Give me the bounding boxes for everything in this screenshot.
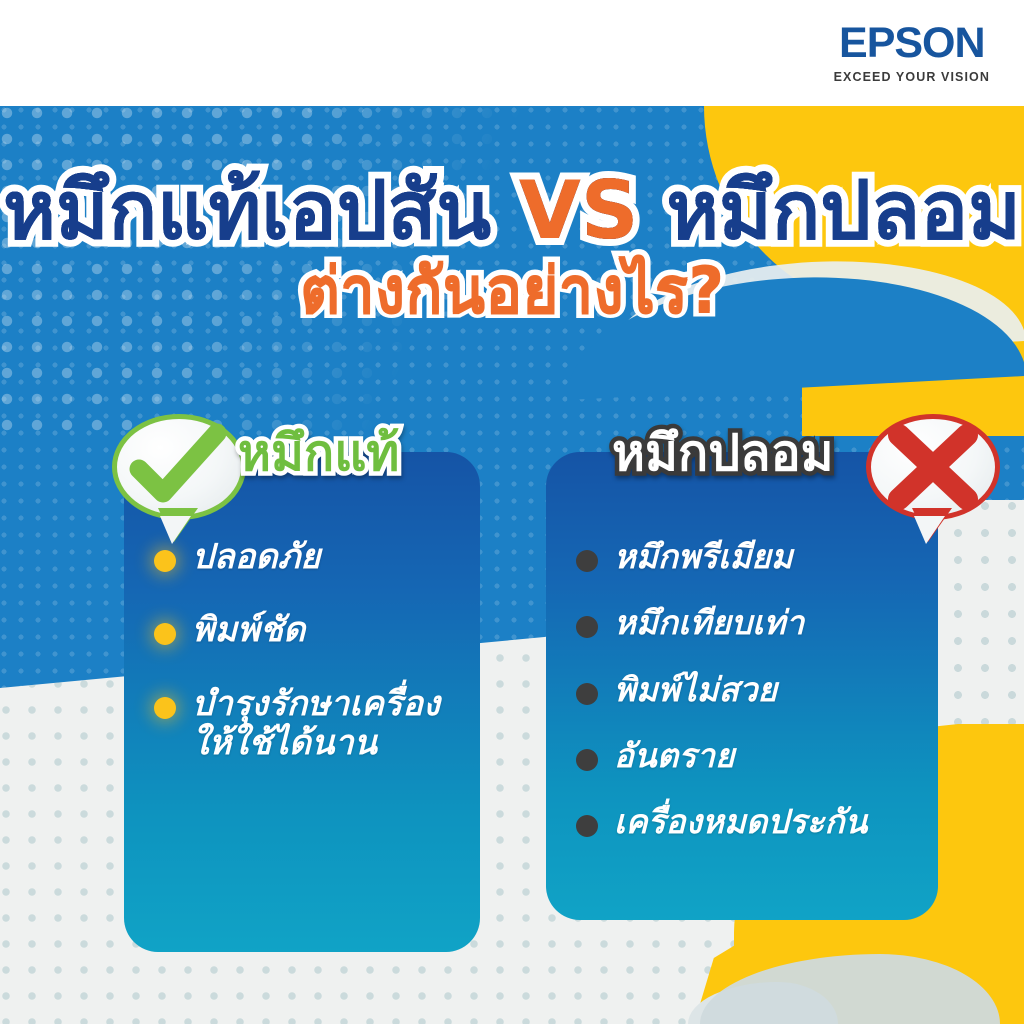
bullet-icon: [154, 697, 176, 719]
list-item-label: หมึกพรีเมียม: [614, 538, 793, 576]
list-item-label: หมึกเทียบเท่า: [614, 604, 804, 642]
counterfeit-column-title: หมึกปลอม: [612, 428, 834, 478]
list-item-label: อันตราย: [614, 737, 735, 775]
bubble-tail-inner: [160, 516, 191, 544]
headline-block: หมึกแท้เอปสัน VS หมึกปลอม หมึกแท้เอปสัน …: [0, 168, 1024, 325]
genuine-badge-bubble: [112, 414, 246, 520]
list-item: พิมพ์ชัด: [124, 611, 480, 650]
bullet-icon: [576, 749, 598, 771]
poster-canvas: EPSON EXCEED YOUR VISION หมึกแท้เอปสัน V…: [0, 0, 1024, 1024]
bullet-icon: [576, 815, 598, 837]
bullet-icon: [576, 550, 598, 572]
bubble-tail-inner: [914, 516, 945, 544]
epson-logo-tagline: EXCEED YOUR VISION: [834, 70, 990, 84]
list-item-label: พิมพ์ชัด: [192, 611, 305, 650]
headline-vs-text-fill: VS: [519, 164, 639, 257]
red-cross-icon: [871, 419, 995, 515]
list-item: หมึกพรีเมียม: [546, 538, 938, 576]
green-check-icon: [117, 419, 241, 515]
headline-fake-text-fill: หมึกปลอม: [666, 164, 1021, 257]
epson-logo: EPSON EXCEED YOUR VISION: [834, 22, 990, 84]
bubble-shape: [112, 414, 246, 520]
list-item: หมึกเทียบเท่า: [546, 604, 938, 642]
list-item-label: พิมพ์ไม่สวย: [614, 671, 777, 709]
headline-line-1: หมึกแท้เอปสัน VS หมึกปลอม หมึกแท้เอปสัน …: [0, 168, 1024, 254]
epson-logo-wordmark: EPSON: [834, 22, 990, 65]
counterfeit-ink-card: หมึกพรีเมียม หมึกเทียบเท่า พิมพ์ไม่สวย อ…: [546, 452, 938, 920]
list-item: พิมพ์ไม่สวย: [546, 671, 938, 709]
headline-line-1-fill: หมึกแท้เอปสัน VS หมึกปลอม: [0, 168, 1024, 254]
list-item-label: เครื่องหมดประกัน: [614, 803, 867, 841]
list-item: เครื่องหมดประกัน: [546, 803, 938, 841]
bullet-icon: [154, 623, 176, 645]
list-item: บำรุงรักษาเครื่องให้ใช้ได้นาน: [124, 685, 480, 764]
headline-subtitle-fill: ต่างกันอย่างไร?: [0, 258, 1024, 326]
list-item: อันตราย: [546, 737, 938, 775]
bullet-icon: [154, 550, 176, 572]
list-item-label: ปลอดภัย: [192, 538, 320, 577]
headline-genuine-text-fill: หมึกแท้เอปสัน: [3, 164, 491, 257]
headline-line-2: ต่างกันอย่างไร? ต่างกันอย่างไร?: [0, 256, 1024, 324]
top-white-bar: EPSON EXCEED YOUR VISION: [0, 0, 1024, 106]
bullet-icon: [576, 683, 598, 705]
list-item-label: บำรุงรักษาเครื่องให้ใช้ได้นาน: [192, 685, 462, 764]
bullet-icon: [576, 616, 598, 638]
genuine-column-title: หมึกแท้: [238, 428, 399, 478]
counterfeit-badge-bubble: [866, 414, 1000, 520]
bubble-shape: [866, 414, 1000, 520]
